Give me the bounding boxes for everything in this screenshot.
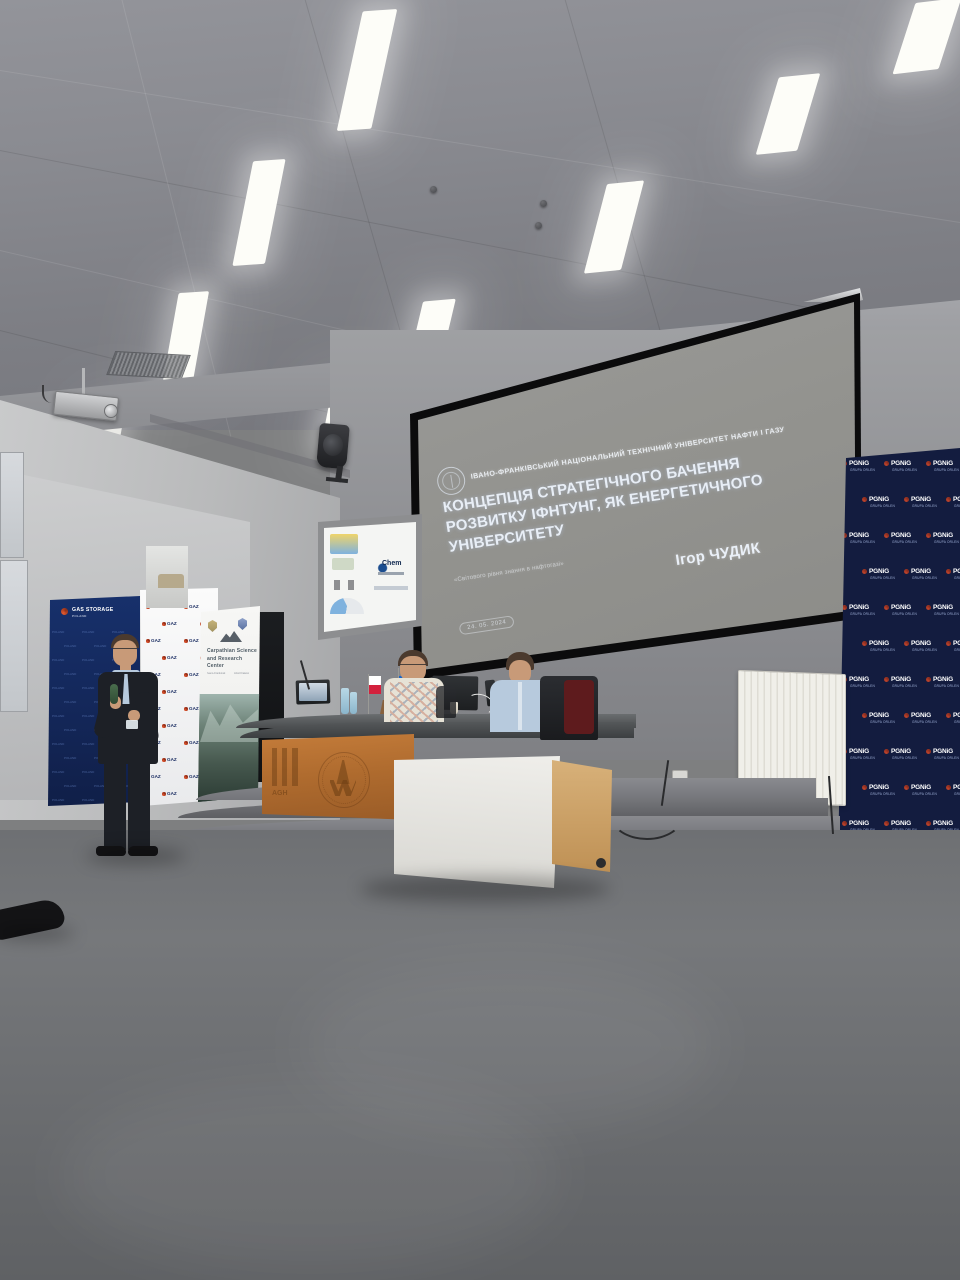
pgnig-swirl-icon (926, 461, 931, 466)
slide-subtitle: «Світового рівня знання в нафтогазі» (454, 561, 565, 584)
pgnig-swirl-icon (862, 641, 867, 646)
floor-cable (610, 790, 684, 840)
pgnig-sublogo: GRUPA ORLEN (870, 576, 895, 580)
pgnig-swirl-icon (862, 497, 867, 502)
pgnig-sublogo: GRUPA ORLEN (912, 792, 937, 796)
carpathian-title-1: Carpathian Science (207, 648, 257, 655)
pgnig-swirl-icon (926, 821, 931, 826)
pgnig-swirl-icon (946, 785, 951, 790)
pgnig-sublogo: GRUPA ORLEN (954, 720, 960, 724)
pgnig-logo: PGNiG (911, 784, 931, 791)
pgnig-sublogo: GRUPA ORLEN (870, 648, 895, 652)
pgnig-logo: PGNiG (891, 676, 911, 683)
pgnig-swirl-icon (862, 785, 867, 790)
pgnig-logo: PGNiG (911, 640, 931, 647)
pgnig-swirl-icon (884, 749, 889, 754)
pgnig-logo: PGNiG (849, 820, 869, 827)
pgnig-logo: PGNiG (933, 676, 953, 683)
pgnig-sublogo: GRUPA ORLEN (934, 684, 959, 688)
pgnig-logo: PGNiG (869, 784, 889, 791)
pgnig-swirl-icon (946, 569, 951, 574)
gas-storage-watermark: POLAND (64, 700, 76, 704)
screen-housing (408, 288, 863, 302)
pgnig-sublogo: GRUPA ORLEN (870, 504, 895, 508)
pgnig-swirl-icon (842, 821, 847, 826)
pgnig-logo: PGNiG (869, 712, 889, 719)
pgnig-logo: PGNiG (869, 640, 889, 647)
pgnig-logo: PGNiG (953, 712, 960, 719)
gas-storage-logo-icon (61, 608, 68, 615)
pgnig-swirl-icon (884, 533, 889, 538)
pgnig-logo: PGNiG (849, 676, 869, 683)
gaz-swirl-icon (184, 741, 188, 745)
pgnig-swirl-icon (862, 713, 867, 718)
gaz-swirl-icon (184, 639, 188, 643)
carpathian-footer-left: Ivano-Frankivsk (207, 672, 225, 675)
pgnig-logo: PGNiG (933, 748, 953, 755)
slide-date-badge: 24. 05. 2024 (459, 615, 516, 635)
pgnig-sublogo: GRUPA ORLEN (850, 756, 875, 760)
pgnig-sublogo: GRUPA ORLEN (870, 720, 895, 724)
pgnig-logo: PGNiG (911, 568, 931, 575)
pgnig-sublogo: GRUPA ORLEN (954, 792, 960, 796)
gaz-logo: GAZ (189, 740, 199, 745)
gas-storage-title-2: POLAND (72, 614, 87, 618)
carpathian-title-2: and Research Center (207, 656, 260, 670)
pgnig-sublogo: GRUPA ORLEN (850, 684, 875, 688)
gaz-swirl-icon (162, 622, 166, 626)
water-bottle[interactable] (350, 692, 357, 714)
pgnig-swirl-icon (862, 569, 867, 574)
gas-storage-watermark: POLAND (52, 658, 64, 662)
gaz-swirl-icon (184, 707, 188, 711)
pgnig-swirl-icon (926, 677, 931, 682)
pgnig-sublogo: GRUPA ORLEN (912, 576, 937, 580)
pgnig-logo: PGNiG (869, 568, 889, 575)
pgnig-sublogo: GRUPA ORLEN (912, 648, 937, 652)
pgnig-sublogo: GRUPA ORLEN (892, 468, 917, 472)
wall-pillar-cap (158, 574, 184, 588)
desk-white-front (394, 756, 560, 888)
water-bottle[interactable] (341, 688, 349, 714)
pgnig-logo: PGNiG (891, 532, 911, 539)
side-glass-panel (0, 560, 28, 712)
pgnig-logo: PGNiG (933, 460, 953, 467)
pgnig-swirl-icon (946, 641, 951, 646)
gas-storage-watermark: POLAND (64, 672, 76, 676)
sprinkler (535, 222, 542, 229)
pgnig-sublogo: GRUPA ORLEN (954, 504, 960, 508)
pgnig-swirl-icon (904, 785, 909, 790)
agh-monogram-icon (272, 748, 298, 786)
pgnig-swirl-icon (904, 713, 909, 718)
ceiling-vent (106, 351, 191, 379)
gas-storage-watermark: POLAND (64, 728, 76, 732)
gas-storage-watermark: POLAND (52, 770, 64, 774)
gaz-logo: GAZ (189, 638, 199, 643)
gas-storage-watermark: POLAND (52, 742, 64, 746)
pgnig-sublogo: GRUPA ORLEN (850, 468, 875, 472)
pgnig-logo: PGNiG (849, 604, 869, 611)
pgnig-sublogo: GRUPA ORLEN (892, 684, 917, 688)
projection-screen: ІВАНО-ФРАНКІВСЬКИЙ НАЦІОНАЛЬНИЙ ТЕХНІЧНИ… (408, 288, 863, 688)
side-screen-caption: Chem (382, 560, 401, 567)
slide-presenter-name: Ігор ЧУДИК (674, 540, 761, 570)
pgnig-logo: PGNiG (933, 604, 953, 611)
pgnig-swirl-icon (926, 749, 931, 754)
pgnig-logo: PGNiG (933, 532, 953, 539)
pgnig-logo: PGNiG (849, 460, 869, 467)
projector-cable (42, 385, 66, 403)
screen-canvas: ІВАНО-ФРАНКІВСЬКИЙ НАЦІОНАЛЬНИЙ ТЕХНІЧНИ… (408, 288, 863, 688)
pgnig-logo: PGNiG (849, 532, 869, 539)
gaz-swirl-icon (184, 673, 188, 677)
gas-storage-title-1: GAS STORAGE (72, 607, 114, 613)
gas-storage-watermark: POLAND (64, 756, 76, 760)
pgnig-sublogo: GRUPA ORLEN (892, 612, 917, 616)
gas-storage-watermark: POLAND (52, 714, 64, 718)
agh-logo: AGH (272, 790, 288, 797)
pgnig-logo: PGNiG (953, 784, 960, 791)
gaz-logo: GAZ (189, 706, 199, 711)
university-emblem-icon (435, 465, 467, 497)
pgnig-swirl-icon (904, 641, 909, 646)
pgnig-sublogo: GRUPA ORLEN (954, 576, 960, 580)
crest-icon (238, 618, 247, 630)
pgnig-sublogo: GRUPA ORLEN (934, 540, 959, 544)
office-chair (436, 686, 456, 718)
pgnig-swirl-icon (904, 497, 909, 502)
pgnig-logo: PGNiG (953, 640, 960, 647)
lecture-hall-photo: ІВАНО-ФРАНКІВСЬКИЙ НАЦІОНАЛЬНИЙ ТЕХНІЧНИ… (0, 0, 960, 1280)
pgnig-sublogo: GRUPA ORLEN (934, 612, 959, 616)
pgnig-logo: PGNiG (953, 568, 960, 575)
pgnig-logo: PGNiG (869, 496, 889, 503)
pgnig-logo: PGNiG (891, 748, 911, 755)
pgnig-sublogo: GRUPA ORLEN (892, 756, 917, 760)
gas-storage-watermark: POLAND (64, 644, 76, 648)
side-glass-panel (0, 452, 24, 558)
speaker-cone-icon (323, 434, 343, 456)
pgnig-sublogo: GRUPA ORLEN (912, 504, 937, 508)
pgnig-logo: PGNiG (953, 496, 960, 503)
crest-icon (208, 620, 217, 632)
pgnig-sublogo: GRUPA ORLEN (934, 468, 959, 472)
pgnig-sublogo: GRUPA ORLEN (934, 756, 959, 760)
pgnig-sublogo: GRUPA ORLEN (892, 540, 917, 544)
pgnig-logo: PGNiG (891, 604, 911, 611)
pgnig-logo: PGNiG (911, 496, 931, 503)
mountain-logo-icon (220, 630, 242, 642)
pgnig-logo: PGNiG (891, 460, 911, 467)
pgnig-sublogo: GRUPA ORLEN (912, 720, 937, 724)
microphone (110, 684, 118, 704)
pgnig-swirl-icon (884, 677, 889, 682)
projector-mount-rod (82, 368, 85, 396)
laptop-screen (299, 683, 327, 701)
sprinkler (540, 200, 547, 207)
pgnig-backdrop-banner: PGNiGGRUPA ORLENPGNiGGRUPA ORLENPGNiGGRU… (838, 448, 960, 878)
speaker-standing (86, 634, 172, 860)
pgnig-logo: PGNiG (891, 820, 911, 827)
chair-backrest (564, 680, 594, 734)
gaz-swirl-icon (184, 775, 188, 779)
pgnig-logo: PGNiG (849, 748, 869, 755)
side-screen: Chem (324, 522, 416, 632)
desk-wood-side (552, 752, 612, 872)
pgnig-swirl-icon (884, 605, 889, 610)
pgnig-sublogo: GRUPA ORLEN (850, 612, 875, 616)
gaz-logo: GAZ (167, 621, 177, 626)
desk-caster (596, 858, 606, 868)
gas-storage-watermark: POLAND (64, 784, 76, 788)
sprinkler (430, 186, 437, 193)
pgnig-sublogo: GRUPA ORLEN (954, 648, 960, 652)
pgnig-sublogo: GRUPA ORLEN (870, 792, 895, 796)
gas-storage-watermark: POLAND (52, 630, 64, 634)
pgnig-swirl-icon (946, 497, 951, 502)
gas-storage-watermark: POLAND (52, 798, 64, 802)
lanyard-badge (126, 720, 138, 729)
pgnig-swirl-icon (926, 533, 931, 538)
pgnig-logo: PGNiG (911, 712, 931, 719)
gaz-logo: GAZ (189, 672, 199, 677)
pgnig-swirl-icon (904, 569, 909, 574)
pgnig-swirl-icon (884, 461, 889, 466)
gas-storage-watermark: POLAND (52, 686, 64, 690)
pgnig-swirl-icon (884, 821, 889, 826)
pgnig-swirl-icon (926, 605, 931, 610)
gaz-logo: GAZ (189, 604, 199, 609)
gaz-logo: GAZ (189, 774, 199, 779)
pgnig-swirl-icon (946, 713, 951, 718)
projector-lens-icon (104, 404, 118, 418)
pgnig-sublogo: GRUPA ORLEN (850, 540, 875, 544)
pgnig-logo: PGNiG (933, 820, 953, 827)
carpathian-footer-right: AGH Krakow (234, 672, 249, 675)
carpathian-center-banner: Carpathian Science and Research Center I… (198, 606, 260, 802)
